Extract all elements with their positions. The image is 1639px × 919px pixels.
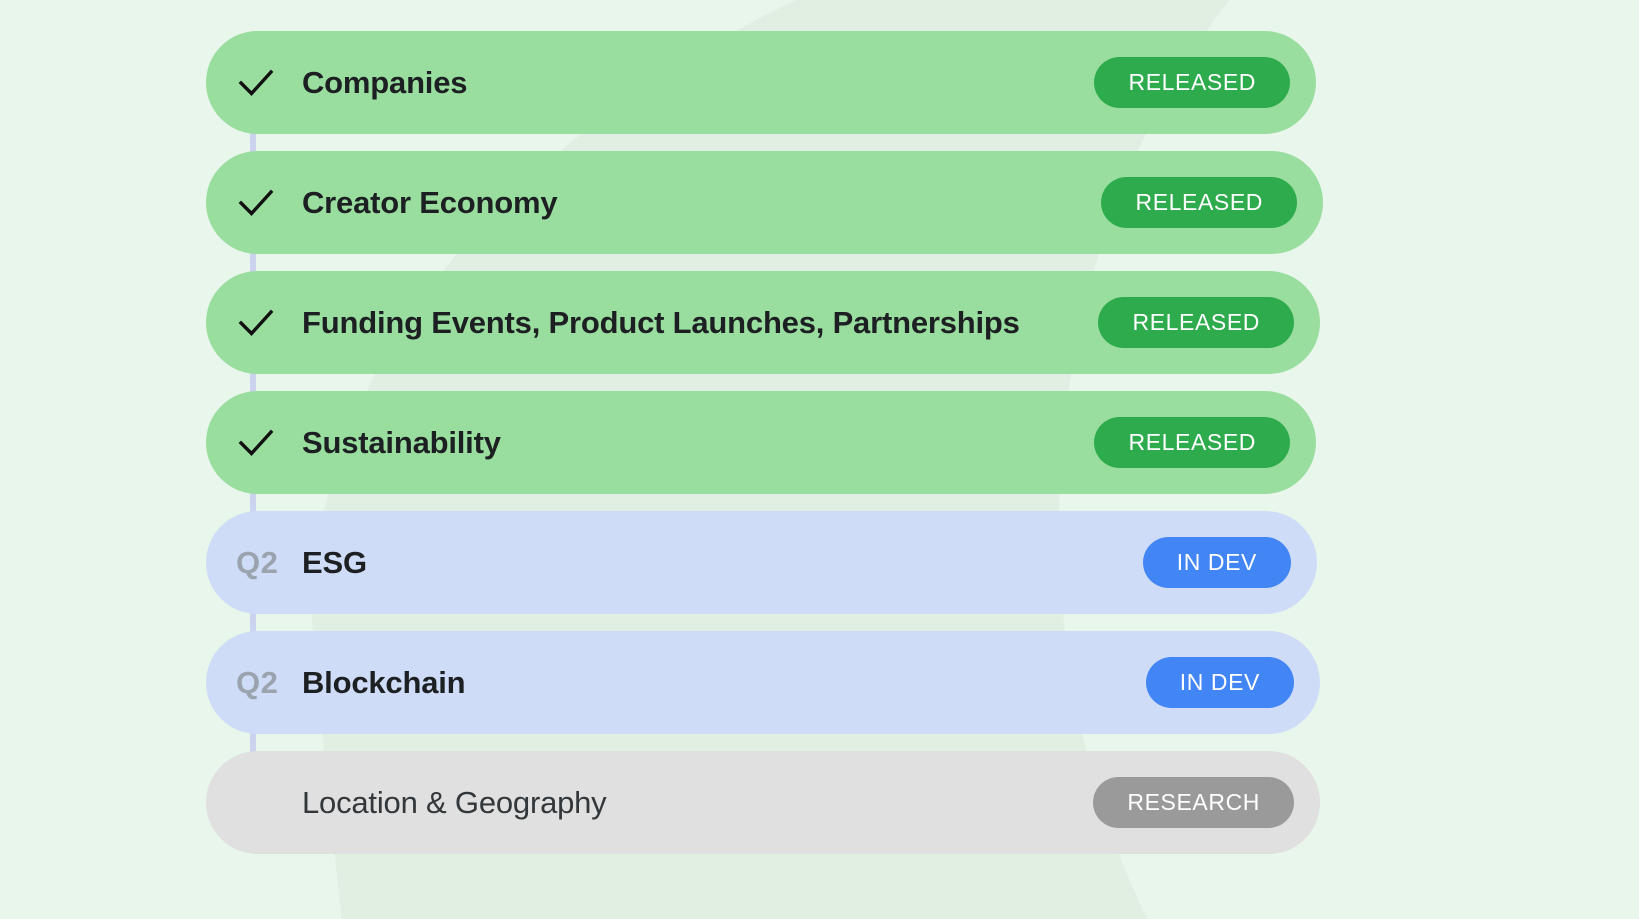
row-marker xyxy=(236,183,302,223)
row-marker xyxy=(236,303,302,343)
status-badge[interactable]: RELEASED xyxy=(1101,177,1297,227)
quarter-label: Q2 xyxy=(236,667,278,698)
roadmap-row-blockchain[interactable]: Q2 Blockchain IN DEV xyxy=(206,631,1320,734)
roadmap-row-title: Blockchain xyxy=(302,665,465,701)
row-marker: Q2 xyxy=(236,547,302,578)
status-badge[interactable]: RELEASED xyxy=(1094,57,1290,107)
roadmap-row-title: Location & Geography xyxy=(302,785,607,821)
row-marker xyxy=(236,63,302,103)
status-badge[interactable]: RELEASED xyxy=(1094,417,1290,467)
status-badge[interactable]: RESEARCH xyxy=(1093,777,1294,827)
roadmap-row-title: Companies xyxy=(302,65,467,101)
roadmap-row-title: Funding Events, Product Launches, Partne… xyxy=(302,305,1020,341)
roadmap-timeline: Companies RELEASED Creator Economy RELEA… xyxy=(0,0,1639,854)
status-badge[interactable]: IN DEV xyxy=(1143,537,1291,587)
status-badge[interactable]: RELEASED xyxy=(1098,297,1294,347)
roadmap-row-title: Sustainability xyxy=(302,425,501,461)
check-icon xyxy=(236,303,276,343)
roadmap-row-location-geography[interactable]: Location & Geography RESEARCH xyxy=(206,751,1320,854)
roadmap-row-title: ESG xyxy=(302,545,367,581)
roadmap-row-funding-events[interactable]: Funding Events, Product Launches, Partne… xyxy=(206,271,1320,374)
row-marker: Q2 xyxy=(236,667,302,698)
roadmap-row-sustainability[interactable]: Sustainability RELEASED xyxy=(206,391,1316,494)
row-marker xyxy=(236,423,302,463)
roadmap-row-creator-economy[interactable]: Creator Economy RELEASED xyxy=(206,151,1323,254)
check-icon xyxy=(236,183,276,223)
roadmap-row-title: Creator Economy xyxy=(302,185,557,221)
check-icon xyxy=(236,423,276,463)
quarter-label: Q2 xyxy=(236,547,278,578)
roadmap-row-companies[interactable]: Companies RELEASED xyxy=(206,31,1316,134)
check-icon xyxy=(236,63,276,103)
roadmap-row-esg[interactable]: Q2 ESG IN DEV xyxy=(206,511,1317,614)
status-badge[interactable]: IN DEV xyxy=(1146,657,1294,707)
